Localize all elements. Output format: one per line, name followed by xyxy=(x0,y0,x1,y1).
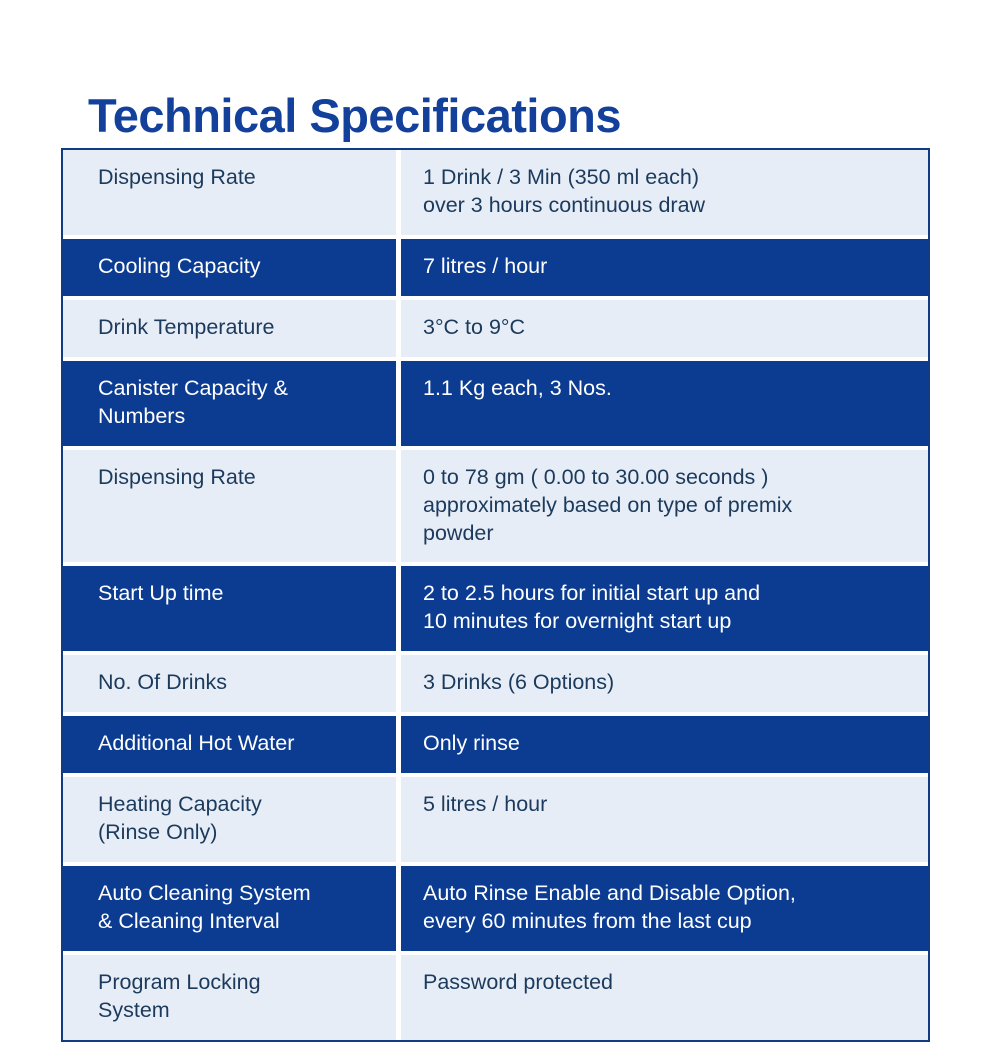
spec-label-cell: No. Of Drinks xyxy=(63,655,396,712)
spec-value-text: 3°C to 9°C xyxy=(423,314,910,342)
specifications-page: Technical Specifications Dispensing Rate… xyxy=(0,0,990,990)
spec-value-cell: 1.1 Kg each, 3 Nos. xyxy=(401,361,928,446)
spec-value-cell: Password protected xyxy=(401,955,928,1040)
spec-value-text: Password protected xyxy=(423,969,910,997)
spec-label-text: Heating Capacity (Rinse Only) xyxy=(98,791,382,847)
spec-value-cell: 3°C to 9°C xyxy=(401,300,928,357)
spec-label-cell: Start Up time xyxy=(63,566,396,651)
spec-label-cell: Dispensing Rate xyxy=(63,150,396,235)
spec-label-cell: Canister Capacity & Numbers xyxy=(63,361,396,446)
spec-label-text: Auto Cleaning System & Cleaning Interval xyxy=(98,880,382,936)
spec-label-cell: Dispensing Rate xyxy=(63,450,396,563)
spec-value-text: 5 litres / hour xyxy=(423,791,910,819)
table-row: Additional Hot WaterOnly rinse xyxy=(63,716,928,773)
spec-value-text: 3 Drinks (6 Options) xyxy=(423,669,910,697)
spec-label-cell: Auto Cleaning System & Cleaning Interval xyxy=(63,866,396,951)
spec-value-text: 0 to 78 gm ( 0.00 to 30.00 seconds ) app… xyxy=(423,464,910,548)
spec-label-text: Drink Temperature xyxy=(98,314,382,342)
table-row: Dispensing Rate0 to 78 gm ( 0.00 to 30.0… xyxy=(63,450,928,563)
spec-value-cell: 5 litres / hour xyxy=(401,777,928,862)
spec-label-cell: Cooling Capacity xyxy=(63,239,396,296)
spec-value-cell: 1 Drink / 3 Min (350 ml each) over 3 hou… xyxy=(401,150,928,235)
table-row: Cooling Capacity7 litres / hour xyxy=(63,239,928,296)
spec-label-text: Additional Hot Water xyxy=(98,730,382,758)
spec-label-text: Cooling Capacity xyxy=(98,253,382,281)
page-title: Technical Specifications xyxy=(88,89,621,143)
spec-label-text: Dispensing Rate xyxy=(98,164,382,192)
spec-label-cell: Program Locking System xyxy=(63,955,396,1040)
spec-label-cell: Heating Capacity (Rinse Only) xyxy=(63,777,396,862)
spec-value-cell: 0 to 78 gm ( 0.00 to 30.00 seconds ) app… xyxy=(401,450,928,563)
spec-label-text: Program Locking System xyxy=(98,969,382,1025)
spec-value-cell: 3 Drinks (6 Options) xyxy=(401,655,928,712)
spec-value-cell: 2 to 2.5 hours for initial start up and … xyxy=(401,566,928,651)
table-row: Start Up time2 to 2.5 hours for initial … xyxy=(63,566,928,651)
spec-value-cell: Only rinse xyxy=(401,716,928,773)
table-row: Auto Cleaning System & Cleaning Interval… xyxy=(63,866,928,951)
spec-label-cell: Drink Temperature xyxy=(63,300,396,357)
spec-value-cell: Auto Rinse Enable and Disable Option, ev… xyxy=(401,866,928,951)
spec-value-text: Auto Rinse Enable and Disable Option, ev… xyxy=(423,880,910,936)
spec-label-cell: Additional Hot Water xyxy=(63,716,396,773)
spec-label-text: Canister Capacity & Numbers xyxy=(98,375,382,431)
table-row: Canister Capacity & Numbers1.1 Kg each, … xyxy=(63,361,928,446)
spec-label-text: Start Up time xyxy=(98,580,382,608)
spec-value-text: Only rinse xyxy=(423,730,910,758)
spec-value-cell: 7 litres / hour xyxy=(401,239,928,296)
table-row: Program Locking SystemPassword protected xyxy=(63,955,928,1040)
spec-value-text: 2 to 2.5 hours for initial start up and … xyxy=(423,580,910,636)
spec-value-text: 7 litres / hour xyxy=(423,253,910,281)
spec-value-text: 1.1 Kg each, 3 Nos. xyxy=(423,375,910,403)
table-row: No. Of Drinks3 Drinks (6 Options) xyxy=(63,655,928,712)
technical-specifications-table: Dispensing Rate1 Drink / 3 Min (350 ml e… xyxy=(61,148,930,1042)
table-row: Heating Capacity (Rinse Only)5 litres / … xyxy=(63,777,928,862)
spec-label-text: Dispensing Rate xyxy=(98,464,382,492)
spec-value-text: 1 Drink / 3 Min (350 ml each) over 3 hou… xyxy=(423,164,910,220)
table-row: Dispensing Rate1 Drink / 3 Min (350 ml e… xyxy=(63,150,928,235)
table-row: Drink Temperature3°C to 9°C xyxy=(63,300,928,357)
spec-label-text: No. Of Drinks xyxy=(98,669,382,697)
